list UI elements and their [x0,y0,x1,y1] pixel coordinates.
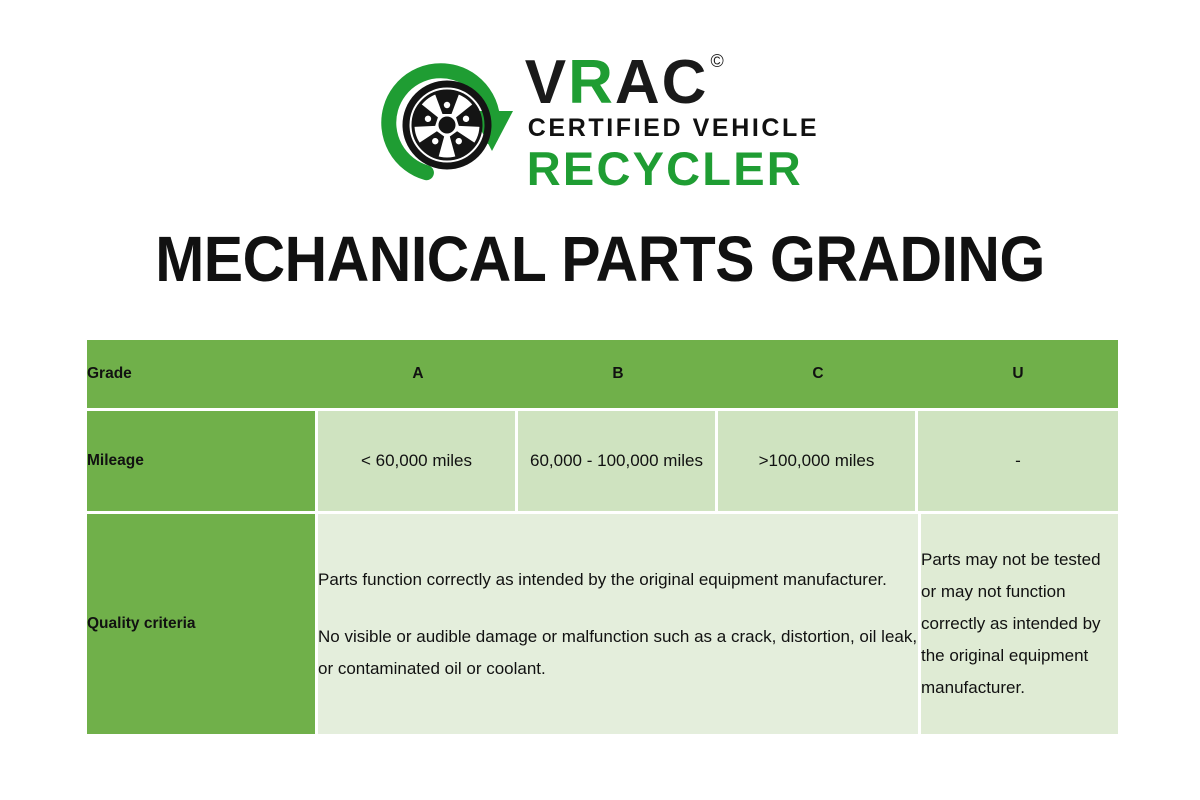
quality-paragraph-2: No visible or audible damage or malfunct… [318,621,918,684]
copyright-icon: © [710,51,725,71]
mechanical-parts-grading-table: Grade A B C U Mileage < 60,000 miles 60,… [87,340,1118,734]
brand-logo: VRAC© CERTIFIED VEHICLE RECYCLER [0,52,1200,202]
quality-cell-abc: Parts function correctly as intended by … [318,511,918,734]
quality-cell-u: Parts may not be tested or may not funct… [918,511,1118,734]
header-cell-c: C [718,340,918,408]
header-cell-a: A [318,340,518,408]
header-cell-b: B [518,340,718,408]
logo-brand-line: VRAC© [525,54,819,113]
header-cell-u: U [918,340,1118,408]
logo-letter-v: V [525,48,568,117]
recycling-wheel-logo-icon [381,53,517,193]
logo-inner: VRAC© CERTIFIED VEHICLE RECYCLER [381,52,819,193]
logo-letters-ac: AC [615,48,709,117]
row-label-quality-criteria: Quality criteria [87,511,318,734]
quality-paragraph-1: Parts function correctly as intended by … [318,564,918,595]
mileage-cell-a: < 60,000 miles [318,408,518,511]
table-row-mileage: Mileage < 60,000 miles 60,000 - 100,000 … [87,408,1118,511]
logo-letter-r: R [568,48,615,117]
mileage-cell-b: 60,000 - 100,000 miles [518,408,718,511]
mileage-cell-c: >100,000 miles [718,408,918,511]
page-title: MECHANICAL PARTS GRADING [48,222,1152,296]
table-header-row: Grade A B C U [87,340,1118,408]
table-row-quality-criteria: Quality criteria Parts function correctl… [87,511,1118,734]
logo-recycler-word: RECYCLER [525,144,819,193]
row-label-mileage: Mileage [87,408,318,511]
logo-tagline: CERTIFIED VEHICLE [525,113,819,144]
header-cell-grade: Grade [87,340,318,408]
logo-wordmark: VRAC© CERTIFIED VEHICLE RECYCLER [525,52,819,193]
mileage-cell-u: - [918,408,1118,511]
